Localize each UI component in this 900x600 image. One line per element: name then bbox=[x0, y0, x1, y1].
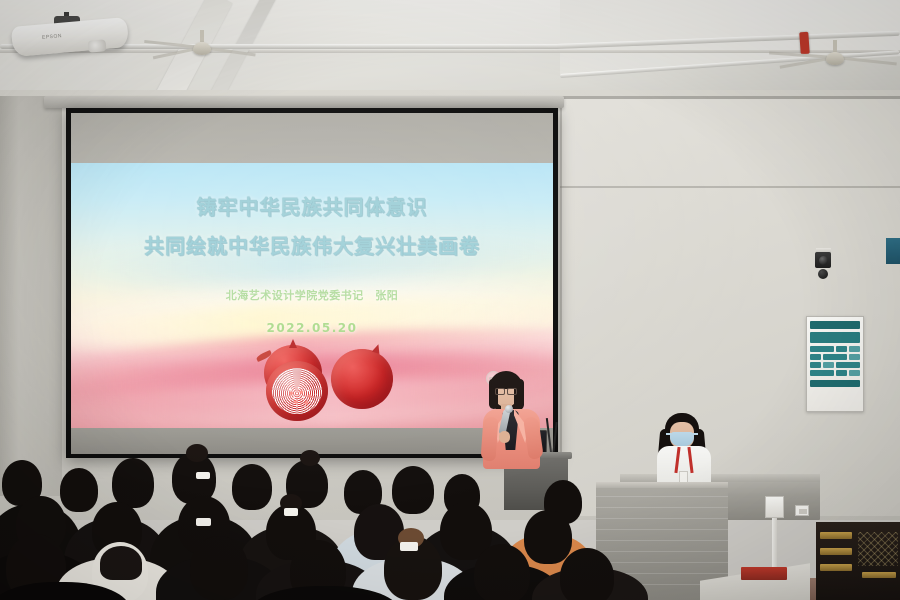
ceiling: EPSON bbox=[0, 0, 900, 96]
fan-hub bbox=[193, 42, 211, 55]
speaker-glasses bbox=[495, 388, 517, 393]
ceiling-fan-left bbox=[142, 36, 262, 62]
poster-cell bbox=[836, 370, 847, 376]
slide-title-line-1: 铸牢中华民族共同体意识 bbox=[197, 191, 428, 220]
fan-hub bbox=[826, 52, 844, 65]
audience-hair-clip bbox=[400, 542, 418, 551]
wall-information-poster bbox=[806, 316, 864, 412]
projection-screen-housing bbox=[44, 96, 564, 108]
poster-cell bbox=[849, 346, 860, 352]
fan-stem bbox=[200, 30, 204, 42]
poster-cell bbox=[810, 362, 821, 368]
audience-hair-bun bbox=[300, 450, 320, 466]
poster-cell bbox=[836, 346, 847, 352]
poster-cell bbox=[823, 354, 847, 360]
poster-cell bbox=[849, 370, 860, 376]
poster-cell bbox=[849, 354, 860, 360]
fan-stem bbox=[833, 40, 837, 52]
projector-lens bbox=[88, 39, 107, 53]
security-camera bbox=[812, 248, 834, 282]
slide-presenter-line: 北海艺术设计学院党委书记 张阳 bbox=[226, 287, 399, 303]
ceiling-projector: EPSON bbox=[12, 16, 128, 56]
wall-seam-horizontal bbox=[560, 186, 900, 188]
audience-hair-clip bbox=[196, 518, 211, 526]
poster-cell bbox=[810, 354, 821, 360]
poster-cell bbox=[823, 362, 834, 368]
audience-hair-bun bbox=[186, 444, 208, 462]
audience-head bbox=[190, 536, 248, 600]
poster-subtitle-bar bbox=[810, 332, 860, 343]
poster-content-grid bbox=[810, 346, 860, 376]
audience bbox=[0, 430, 900, 600]
audience-head bbox=[60, 468, 98, 512]
poster-footer-bar bbox=[810, 380, 860, 387]
wall-sign-small bbox=[886, 238, 900, 264]
speaker-hair-front bbox=[491, 373, 521, 389]
poster-cell bbox=[810, 370, 834, 376]
audience-head bbox=[474, 544, 530, 600]
slide-date: 2022.05.20 bbox=[267, 321, 358, 335]
slide-title-line-2: 共同绘就中华民族伟大复兴壮美画卷 bbox=[144, 230, 480, 259]
poster-cell bbox=[836, 362, 860, 368]
audience-head bbox=[524, 510, 572, 564]
camera-lens-icon bbox=[819, 256, 828, 265]
audience-head bbox=[112, 458, 154, 508]
audience-head bbox=[392, 466, 434, 514]
audience-cap-crown bbox=[100, 546, 142, 580]
camera-dome bbox=[818, 269, 828, 279]
projector-body bbox=[11, 17, 129, 57]
microphone-head bbox=[505, 405, 513, 413]
audience-head bbox=[232, 464, 272, 510]
screen-unlit-top bbox=[71, 113, 553, 163]
audience-hair-clip bbox=[196, 472, 210, 479]
audience-hair-clip bbox=[284, 508, 298, 516]
poster-title-bar bbox=[810, 321, 860, 329]
ceiling-fan-right bbox=[760, 46, 900, 72]
audience-head bbox=[560, 548, 614, 600]
lecture-hall-photo: EPSON bbox=[0, 0, 900, 600]
fan-blade bbox=[835, 56, 897, 65]
poster-cell bbox=[810, 346, 834, 352]
wall-top-trim bbox=[560, 96, 900, 99]
